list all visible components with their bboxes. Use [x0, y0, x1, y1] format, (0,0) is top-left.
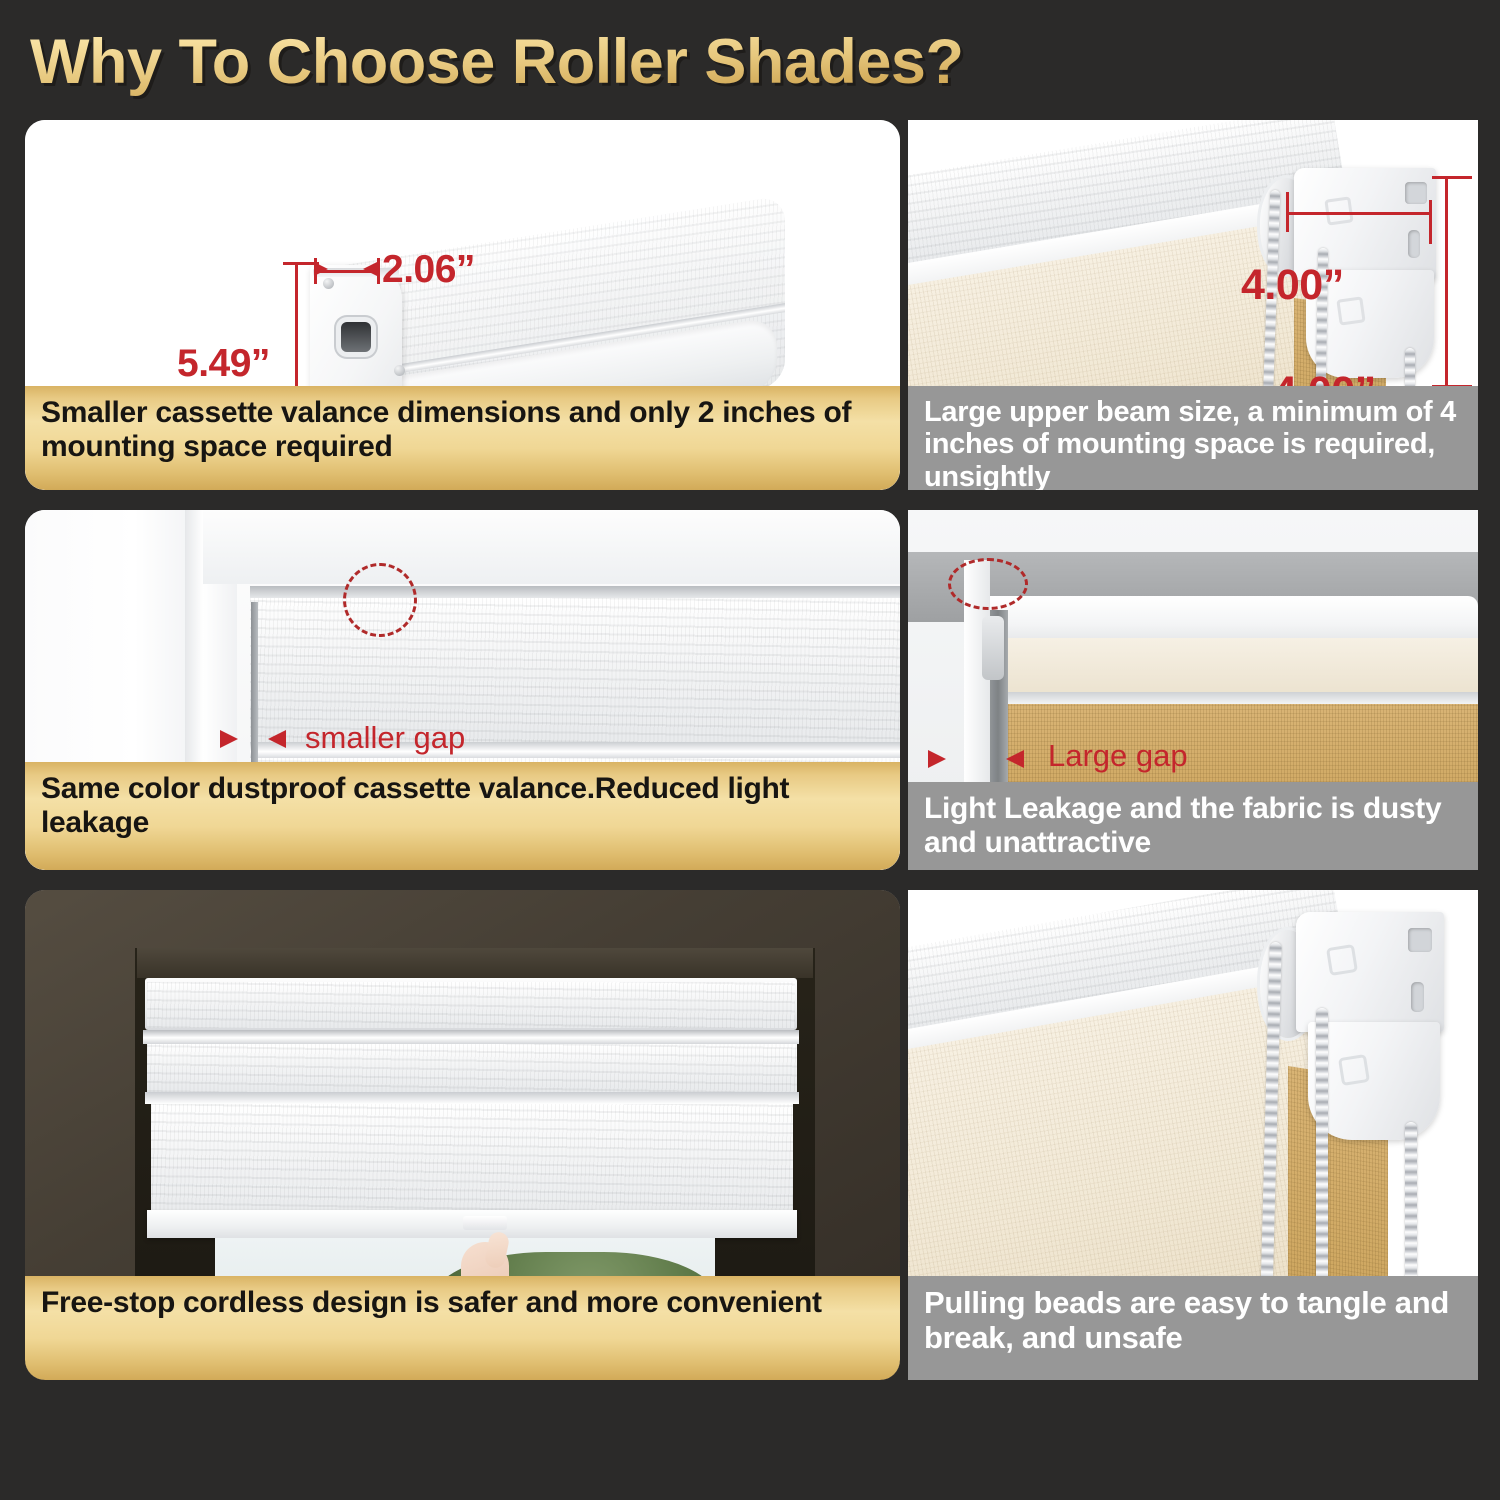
screw-hole-top — [323, 278, 334, 289]
headrail-roll-bar — [143, 1030, 799, 1044]
large-gap-arrow-left — [928, 750, 946, 768]
panel-mid-left: smaller gap Same color dustproof cassett… — [25, 510, 900, 870]
dim-w-line-right-panel — [1286, 212, 1432, 215]
bracket-logo-lower-br — [1338, 1054, 1370, 1086]
window-head-jamb — [203, 510, 900, 584]
caption-mid-left-text: Same color dustproof cassette valance.Re… — [41, 772, 789, 839]
bracket-logo-upper-br — [1326, 944, 1358, 976]
panel-bottom-left: Free-stop cordless design is safer and m… — [25, 890, 900, 1380]
valance-second-band — [147, 1044, 797, 1092]
highlight-circle-gap — [948, 558, 1028, 610]
caption-top-right: Large upper beam size, a minimum of 4 in… — [908, 386, 1478, 490]
dim-w-label-right-panel: 4.00” — [1241, 261, 1344, 310]
dim-height-tick-top — [283, 262, 319, 265]
mid-left-gap-arrow-in-left — [220, 730, 238, 748]
dim-width-label: 2.06” — [382, 248, 475, 292]
caption-mid-right: Light Leakage and the fabric is dusty an… — [908, 782, 1478, 870]
large-gap-label: Large gap — [1048, 738, 1188, 774]
clutch-socket — [341, 322, 371, 352]
caption-top-right-text: Large upper beam size, a minimum of 4 in… — [924, 396, 1456, 490]
fabric-rail-line — [980, 692, 1478, 704]
dim-width-arrow-right — [363, 262, 377, 276]
bracket-slot-upper — [1405, 182, 1427, 204]
panel-bottom-right: Pulling beads are easy to tangle and bre… — [908, 890, 1478, 1380]
caption-bottom-right: Pulling beads are easy to tangle and bre… — [908, 1276, 1478, 1380]
bracket-logo-upper — [1324, 196, 1353, 225]
bracket-slot-lower-br — [1411, 982, 1424, 1012]
page-title: Why To Choose Roller Shades? — [30, 22, 1230, 102]
window-reveal-head — [137, 948, 813, 978]
bracket-slot-lower — [1408, 230, 1420, 258]
bottom-rail-pull-tab — [463, 1216, 507, 1230]
panel-mid-right: Large gap Light Leakage and the fabric i… — [908, 510, 1478, 870]
panel-top-right: 4.00” 4.00” Large upper beam size, a min… — [908, 120, 1478, 490]
mid-left-gap-arrow-in-right — [268, 730, 286, 748]
dim-w-tick-left-right-panel — [1286, 192, 1289, 232]
caption-bottom-right-text: Pulling beads are easy to tangle and bre… — [924, 1285, 1449, 1355]
mid-left-gap-text: smaller gap — [305, 720, 465, 756]
screw-hole-mid — [394, 365, 405, 376]
valance-lower-rail — [145, 1092, 799, 1104]
panel-top-left: 2.06” 5.49” Smaller cassette valance dim… — [25, 120, 900, 490]
dim-w-tick-right-right-panel — [1429, 200, 1432, 244]
dim-h-line-right-panel — [1445, 176, 1448, 388]
headrail-fabric-face — [147, 982, 795, 1028]
large-gap-arrow-right — [1006, 750, 1024, 768]
caption-bottom-left-text: Free-stop cordless design is safer and m… — [41, 1286, 822, 1319]
exposed-clutch — [982, 616, 1004, 680]
dim-height-label: 5.49” — [177, 342, 270, 386]
caption-bottom-left: Free-stop cordless design is safer and m… — [25, 1276, 900, 1380]
caption-top-left: Smaller cassette valance dimensions and … — [25, 386, 900, 490]
caption-top-left-text: Smaller cassette valance dimensions and … — [41, 396, 851, 463]
main-shade-fabric — [151, 1104, 793, 1222]
dim-h-tick-top-right-panel — [1432, 176, 1472, 179]
caption-mid-right-text: Light Leakage and the fabric is dusty an… — [924, 792, 1441, 859]
highlight-circle-cassette — [343, 563, 417, 637]
caption-mid-left: Same color dustproof cassette valance.Re… — [25, 762, 900, 870]
cream-fabric-band — [980, 638, 1478, 694]
bracket-slot-upper-br — [1408, 928, 1432, 952]
infographic-root: Why To Choose Roller Shades? Why To Choo… — [0, 0, 1500, 1500]
